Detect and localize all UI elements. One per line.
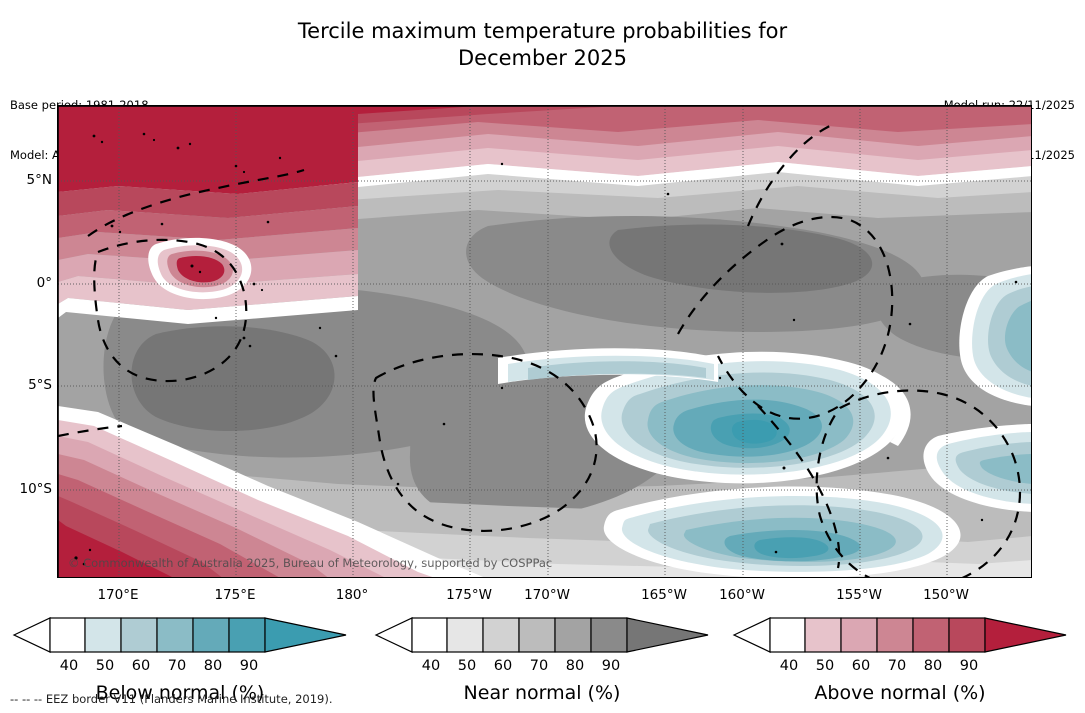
cb1-tick-50: 50 (96, 658, 114, 674)
cb2-tick-90: 90 (602, 658, 620, 674)
x-tick-160w: 160°W (719, 587, 765, 603)
colorbar-above-normal-swatches (730, 612, 1070, 658)
cb1-tick-60: 60 (132, 658, 150, 674)
map-copyright: © Commonwealth of Australia 2025, Bureau… (68, 556, 552, 570)
cb2-tick-70: 70 (530, 658, 548, 674)
title-line-2: December 2025 (458, 46, 627, 70)
x-tick-170w: 170°W (524, 587, 570, 603)
y-tick-10s: 10°S (4, 481, 52, 497)
cb2-tick-80: 80 (566, 658, 584, 674)
x-tick-175w: 175°W (446, 587, 492, 603)
cb3-tick-80: 80 (924, 658, 942, 674)
colorbar-near-normal: 40 50 60 70 80 90 Near normal (%) (372, 612, 712, 704)
title-line-1: Tercile maximum temperature probabilitie… (298, 19, 787, 43)
cb3-tick-90: 90 (960, 658, 978, 674)
colorbar-near-normal-title: Near normal (%) (372, 682, 712, 704)
cb3-tick-50: 50 (816, 658, 834, 674)
colorbar-below-normal: 40 50 60 70 80 90 Below normal (%) (10, 612, 350, 704)
colorbar-near-normal-ticks: 40 50 60 70 80 90 (372, 658, 712, 678)
y-tick-0: 0° (4, 275, 52, 291)
colorbar-above-normal-title: Above normal (%) (730, 682, 1070, 704)
x-tick-180: 180° (336, 587, 369, 603)
y-tick-5n: 5°N (4, 172, 52, 188)
colorbar-below-normal-ticks: 40 50 60 70 80 90 (10, 658, 350, 678)
cb2-tick-60: 60 (494, 658, 512, 674)
eez-dash-sample: -- -- -- (10, 692, 42, 706)
cb1-tick-40: 40 (60, 658, 78, 674)
page-title: Tercile maximum temperature probabilitie… (0, 18, 1085, 72)
colorbar-above-normal: 40 50 60 70 80 90 Above normal (%) (730, 612, 1070, 704)
cb1-tick-80: 80 (204, 658, 222, 674)
x-tick-170e: 170°E (97, 587, 138, 603)
cb2-tick-40: 40 (422, 658, 440, 674)
y-tick-5s: 5°S (4, 377, 52, 393)
figure-root: Tercile maximum temperature probabilitie… (0, 0, 1085, 713)
cb3-tick-70: 70 (888, 658, 906, 674)
cb3-tick-60: 60 (852, 658, 870, 674)
x-tick-175e: 175°E (214, 587, 255, 603)
cb2-tick-50: 50 (458, 658, 476, 674)
x-tick-155w: 155°W (836, 587, 882, 603)
cb1-tick-70: 70 (168, 658, 186, 674)
eez-footnote: -- -- -- EEZ border V11 (Flanders Marine… (10, 692, 333, 706)
tercile-probability-map (58, 106, 1032, 578)
eez-footnote-text: EEZ border V11 (Flanders Marine Institut… (42, 692, 332, 706)
x-tick-165w: 165°W (641, 587, 687, 603)
cb1-tick-90: 90 (240, 658, 258, 674)
cb3-tick-40: 40 (780, 658, 798, 674)
colorbar-near-normal-swatches (372, 612, 712, 658)
colorbar-above-normal-ticks: 40 50 60 70 80 90 (730, 658, 1070, 678)
map-plot-area (57, 105, 1032, 578)
x-tick-150w: 150°W (923, 587, 969, 603)
colorbar-below-normal-swatches (10, 612, 350, 658)
